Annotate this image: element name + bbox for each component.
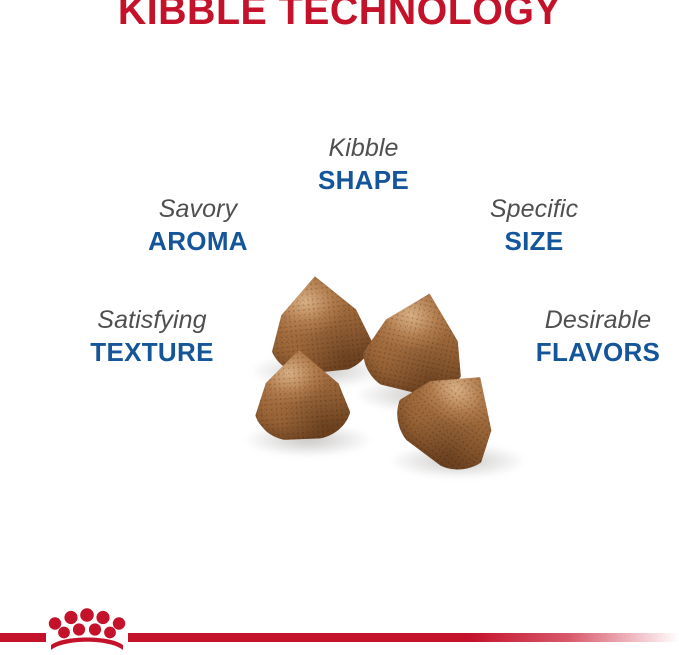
feature-label-aroma: Savory AROMA [113,197,283,254]
feature-label-shape: Kibble SHAPE [276,136,451,193]
feature-label-flavors-modifier: Desirable [512,308,679,333]
feature-label-aroma-modifier: Savory [113,197,283,222]
footer-bar-right [128,633,679,642]
feature-label-size: Specific SIZE [455,197,613,254]
feature-label-texture: Satisfying TEXTURE [62,308,242,365]
kibble-technology-panel: KIBBLE TECHNOLOGY Kibble SHAPE Savory AR… [0,0,679,655]
feature-label-flavors: Desirable FLAVORS [512,308,679,365]
feature-label-size-keyword: SIZE [455,228,613,254]
feature-label-texture-modifier: Satisfying [62,308,242,333]
feature-label-flavors-keyword: FLAVORS [512,339,679,365]
page-title: KIBBLE TECHNOLOGY [14,0,666,33]
footer-bar-left [0,633,46,642]
royal-canin-crown-icon [46,603,128,652]
feature-label-size-modifier: Specific [455,197,613,222]
feature-label-aroma-keyword: AROMA [113,228,283,254]
feature-label-shape-modifier: Kibble [276,136,451,161]
kibble-image-group [246,258,556,488]
brand-footer [0,600,679,655]
feature-label-shape-keyword: SHAPE [276,167,451,193]
feature-label-texture-keyword: TEXTURE [62,339,242,365]
